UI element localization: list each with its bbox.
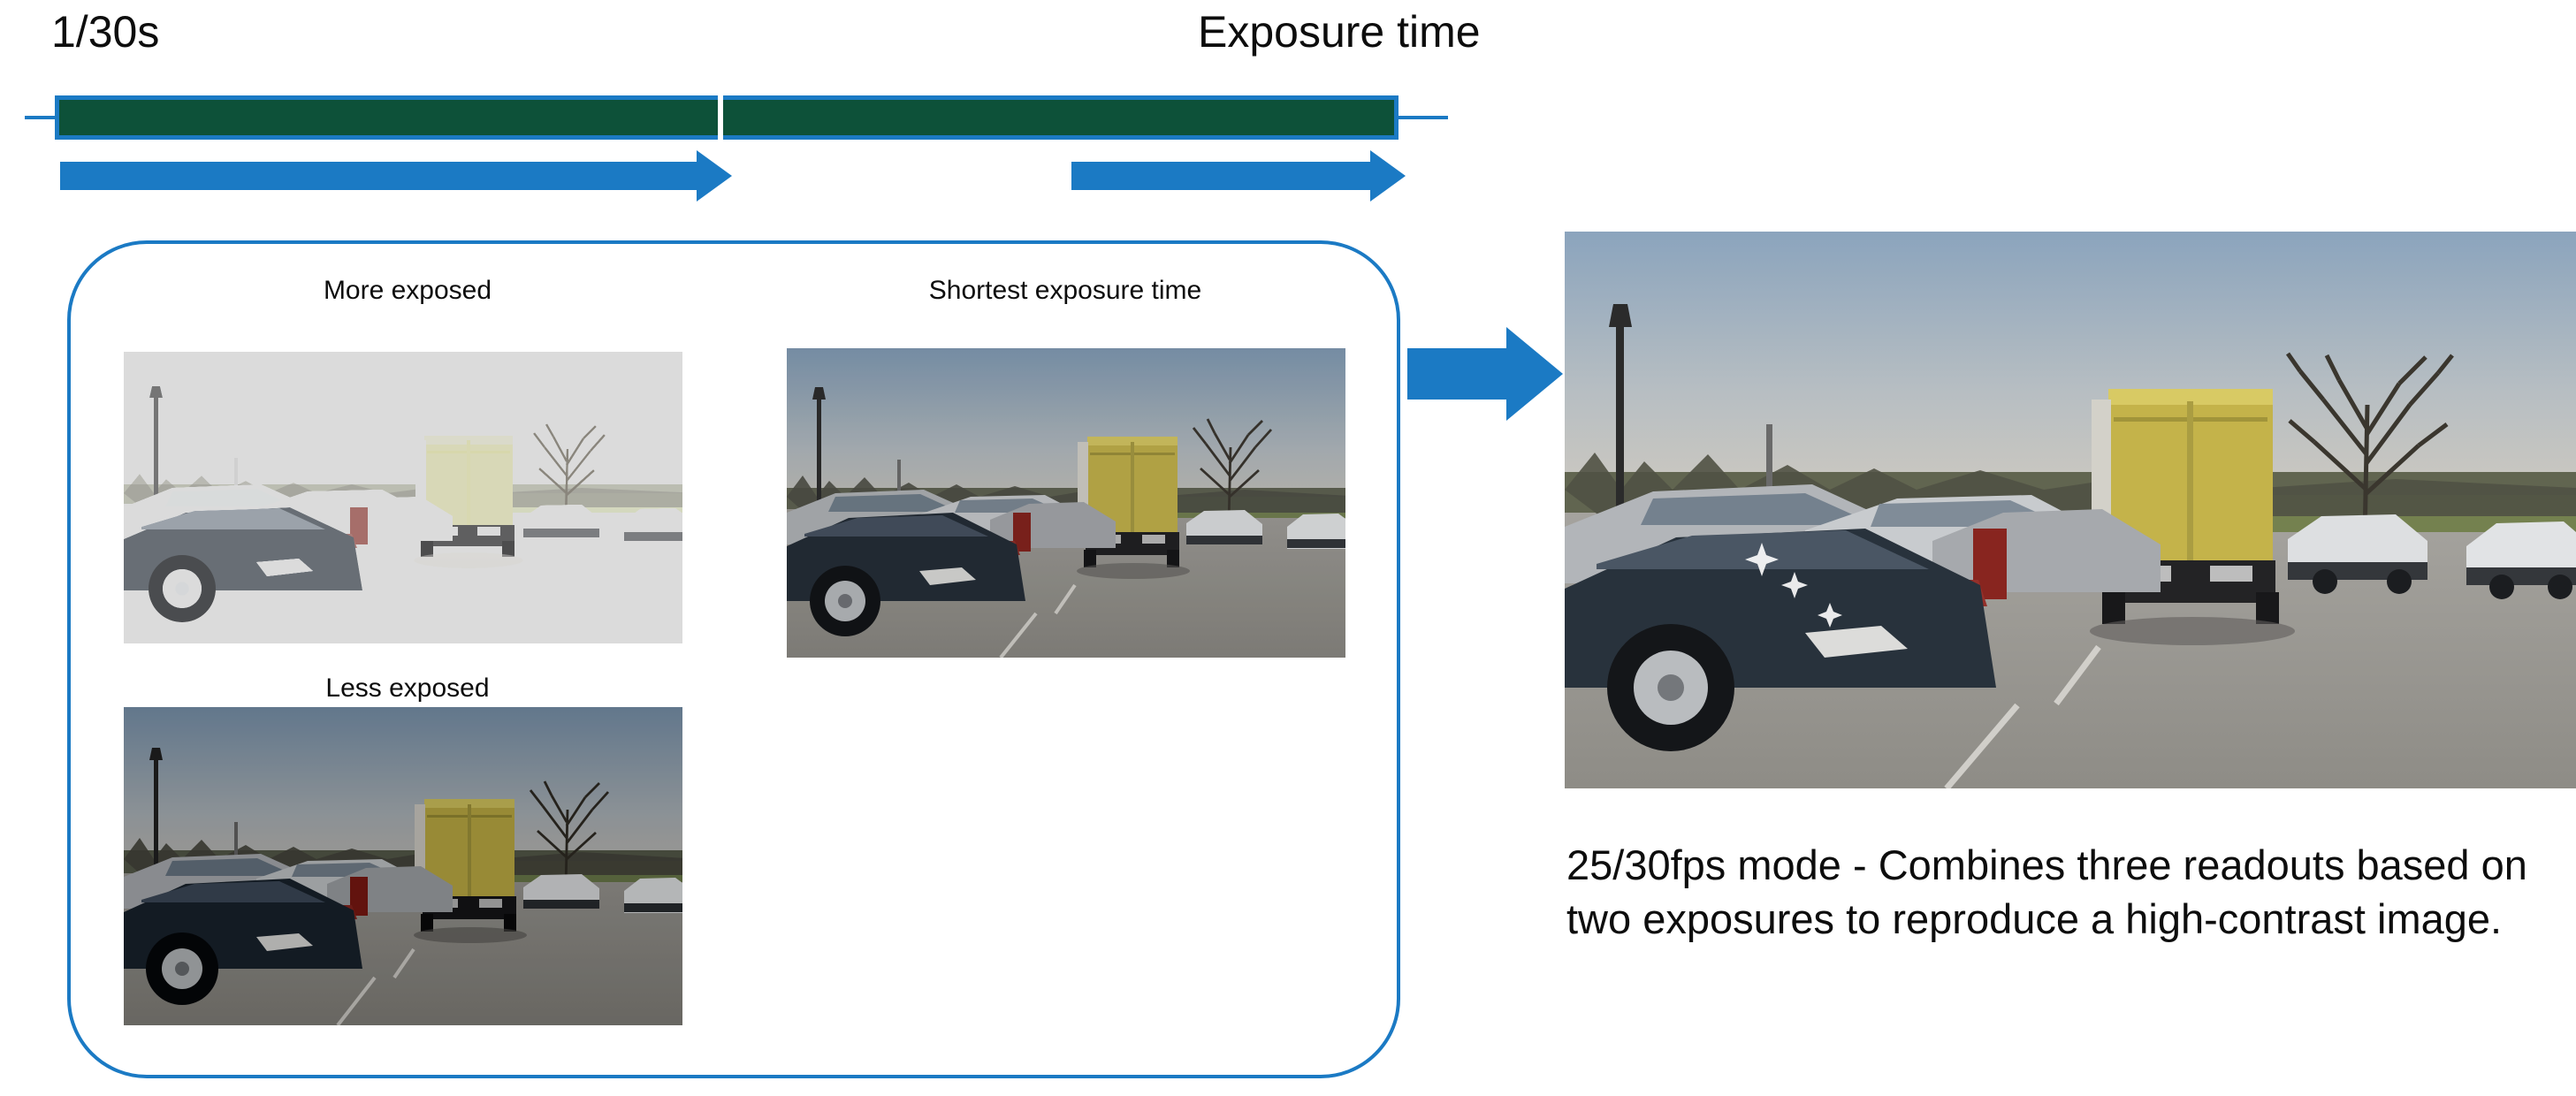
readout-arrow-1-shaft bbox=[60, 162, 697, 190]
frame-time-label: 1/30s bbox=[51, 7, 159, 58]
caption-less-exposed: Less exposed bbox=[129, 674, 686, 704]
readout-arrow-2-head bbox=[1370, 150, 1406, 202]
photo-hdr-result bbox=[1565, 232, 2576, 788]
exposure-time-label: Exposure time bbox=[1198, 7, 1481, 58]
caption-more-exposed: More exposed bbox=[129, 276, 686, 306]
combine-arrow bbox=[1407, 327, 1563, 421]
readout-arrow-2-shaft bbox=[1071, 162, 1370, 190]
timeline-segment-divider bbox=[718, 94, 723, 141]
result-caption: 25/30fps mode - Combines three readouts … bbox=[1566, 838, 2557, 946]
readout-arrow-1-head bbox=[697, 150, 732, 202]
combine-arrow-head bbox=[1506, 327, 1563, 421]
photo-more-exposed bbox=[124, 352, 682, 643]
combine-arrow-shaft bbox=[1407, 348, 1506, 400]
photo-less-exposed bbox=[124, 707, 682, 1025]
readout-arrow-1 bbox=[60, 150, 732, 202]
photo-shortest-exposure bbox=[787, 348, 1345, 658]
exposure-timeline-bar bbox=[55, 95, 1399, 140]
readout-arrow-2 bbox=[1071, 150, 1406, 202]
parking-lot-scene bbox=[1565, 232, 2576, 788]
parking-lot-scene bbox=[787, 348, 1345, 658]
caption-shortest-exposure-time: Shortest exposure time bbox=[787, 276, 1344, 306]
parking-lot-scene bbox=[124, 707, 682, 1025]
parking-lot-scene bbox=[124, 352, 682, 643]
